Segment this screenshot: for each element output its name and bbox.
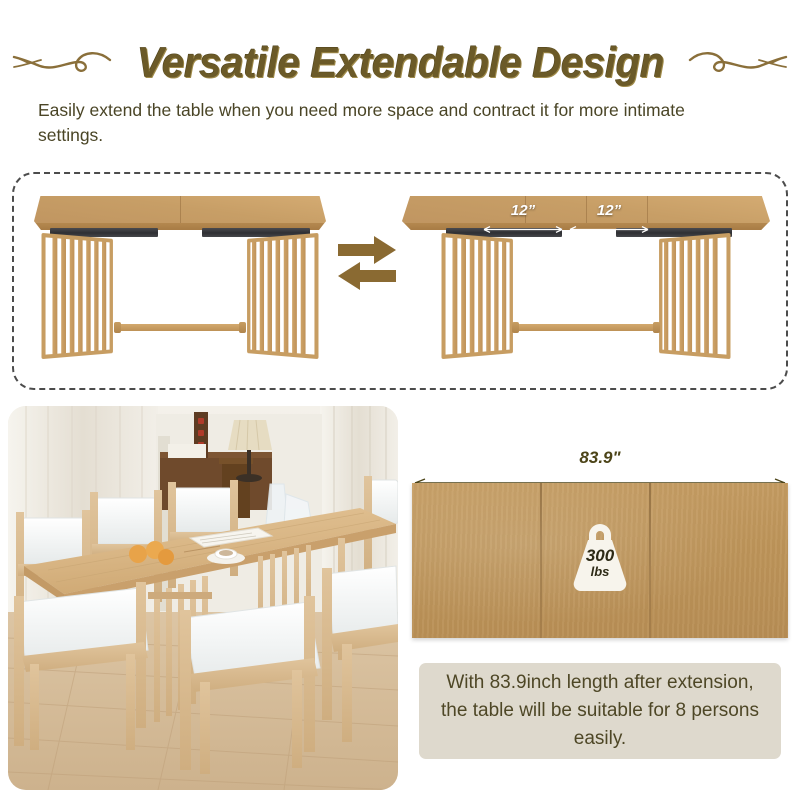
leg-slat — [260, 241, 264, 350]
leg-slat — [502, 242, 506, 350]
leg-slat — [713, 238, 718, 354]
room-scene-illustration — [8, 406, 398, 790]
slatted-leg-left — [42, 233, 113, 359]
extend-contract-arrows — [334, 230, 400, 296]
leg-slat — [70, 239, 75, 352]
arrow-right-icon — [338, 236, 396, 264]
center-stretcher-bar — [516, 324, 656, 331]
leg-slat — [478, 240, 483, 352]
leg-slat — [52, 238, 57, 354]
extended-table-illustration: 12” 12” — [400, 196, 772, 376]
leg-slat — [86, 241, 90, 352]
leg-slat — [452, 238, 457, 354]
tabletop — [34, 196, 326, 230]
leg-slat — [672, 241, 676, 350]
leg-slat — [292, 239, 297, 353]
weight-value: 300 — [569, 547, 631, 565]
slatted-leg-right — [659, 233, 730, 359]
leg-slat — [61, 239, 66, 354]
center-stretcher-bar — [118, 324, 242, 331]
dimension-arrow-icon — [568, 225, 650, 234]
leg-slat — [268, 241, 272, 352]
leg-slat — [94, 241, 98, 351]
subtitle: Easily extend the table when you need mo… — [38, 98, 738, 148]
weight-text: 300 lbs — [569, 547, 631, 578]
stretcher-cap-right — [653, 322, 660, 333]
title-row: Versatile Extendable Design — [0, 34, 800, 92]
leg-slat — [680, 241, 684, 352]
page-title: Versatile Extendable Design — [136, 39, 663, 88]
slatted-leg-right — [247, 233, 318, 359]
leg-slat — [704, 239, 709, 353]
lamp-base — [236, 474, 262, 482]
arrow-left-icon — [338, 262, 396, 290]
tabletop-topview: 300 lbs — [412, 483, 788, 638]
length-dimension: 83.9" — [412, 448, 788, 488]
ornamental-flourish-icon-left — [10, 46, 114, 80]
leg-slat — [688, 240, 693, 352]
dimension-arrow-icon — [482, 225, 564, 234]
extension-dimension-label: 12” — [568, 202, 650, 219]
lamp-shade — [228, 420, 272, 450]
tabletop-panel-seam — [649, 483, 651, 638]
leg-slat — [276, 240, 281, 352]
book-stack — [168, 444, 206, 458]
stretcher-cap-right — [239, 322, 246, 333]
extension-dimension-label: 12” — [482, 202, 564, 219]
weight-capacity-badge: 300 lbs — [569, 521, 631, 593]
leg-slat — [494, 241, 498, 351]
stretcher-cap-left — [114, 322, 121, 333]
leg-slat — [102, 242, 106, 350]
tabletop-topview-panel: 83.9" 300 lbs — [408, 448, 792, 648]
leg-slat — [301, 238, 306, 354]
leg-slat — [78, 240, 83, 352]
extension-dimension-left: 12” — [482, 202, 564, 234]
extendable-demo-panel: 12” 12” — [12, 172, 788, 390]
caption-text: With 83.9inch length after extension, th… — [419, 669, 781, 753]
leg-slat — [696, 239, 701, 352]
leg-slat — [664, 242, 668, 350]
length-dimension-label: 83.9" — [412, 448, 788, 468]
leg-slat — [284, 239, 289, 352]
lamp-stem — [247, 450, 251, 476]
leg-slat — [470, 239, 475, 352]
weight-unit: lbs — [569, 565, 631, 579]
ornamental-flourish-icon-right — [686, 46, 790, 80]
tabletop-seam — [180, 196, 181, 223]
header: Versatile Extendable Design Easily exten… — [0, 0, 800, 160]
dining-room-lifestyle-photo — [8, 406, 398, 790]
caption-box: With 83.9inch length after extension, th… — [419, 663, 781, 759]
extension-dimension-right: 12” — [568, 202, 650, 234]
contracted-table-illustration — [30, 196, 330, 376]
slatted-leg-left — [442, 233, 513, 359]
leg-slat — [252, 242, 256, 350]
leg-slat — [461, 239, 466, 354]
tabletop-panel-seam — [540, 483, 542, 638]
leg-slat — [486, 241, 490, 352]
stretcher-cap-left — [512, 322, 519, 333]
decor-accents — [198, 418, 204, 448]
